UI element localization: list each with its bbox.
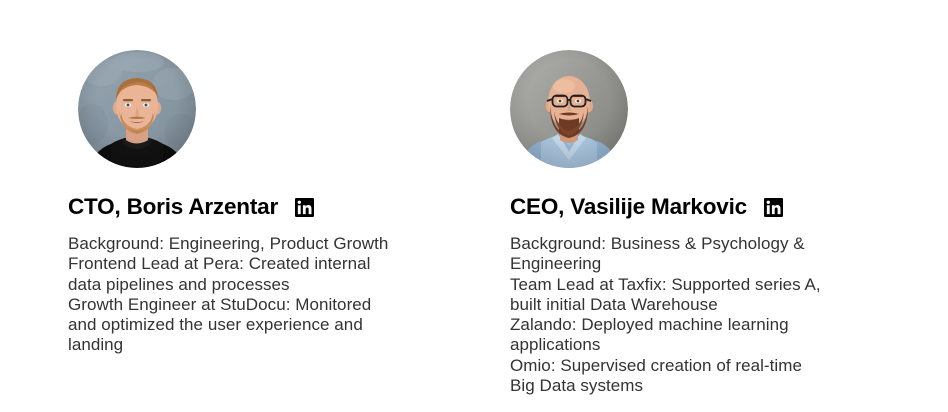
- linkedin-icon[interactable]: [764, 198, 783, 217]
- profile-card-boris-arzentar: CTO, Boris Arzentar Background: Engineer…: [68, 0, 488, 168]
- avatar-vasilije-markovic: [510, 50, 628, 168]
- bio-line: landing: [68, 335, 413, 355]
- bio-line: applications: [510, 335, 860, 355]
- profile-name: CEO, Vasilije Markovic: [510, 196, 747, 219]
- bio-line: Frontend Lead at Pera: Created internal: [68, 254, 413, 274]
- team-profiles-section: CTO, Boris Arzentar Background: Engineer…: [0, 0, 948, 412]
- bio-line: Zalando: Deployed machine learning: [510, 315, 860, 335]
- bio-line: Background: Business & Psychology &: [510, 234, 860, 254]
- profile-bio-boris-arzentar: Background: Engineering, Product Growth …: [68, 234, 413, 356]
- bio-line: Omio: Supervised creation of real-time: [510, 356, 860, 376]
- profile-card-vasilije-markovic: CEO, Vasilije Markovic Background: Busin…: [510, 0, 930, 168]
- profile-bio-vasilije-markovic: Background: Business & Psychology & Engi…: [510, 234, 860, 396]
- avatar-boris-arzentar: [78, 50, 196, 168]
- profile-name: CTO, Boris Arzentar: [68, 196, 278, 219]
- profile-heading-vasilije-markovic: CEO, Vasilije Markovic: [510, 196, 783, 219]
- bio-line: Background: Engineering, Product Growth: [68, 234, 413, 254]
- bio-line: Growth Engineer at StuDocu: Monitored: [68, 295, 413, 315]
- bio-line: Engineering: [510, 254, 860, 274]
- bio-line: and optimized the user experience and: [68, 315, 413, 335]
- bio-line: Team Lead at Taxfix: Supported series A,: [510, 275, 860, 295]
- bio-line: Big Data systems: [510, 376, 860, 396]
- profile-heading-boris-arzentar: CTO, Boris Arzentar: [68, 196, 314, 219]
- bio-line: built initial Data Warehouse: [510, 295, 860, 315]
- linkedin-icon[interactable]: [295, 198, 314, 217]
- bio-line: data pipelines and processes: [68, 275, 413, 295]
